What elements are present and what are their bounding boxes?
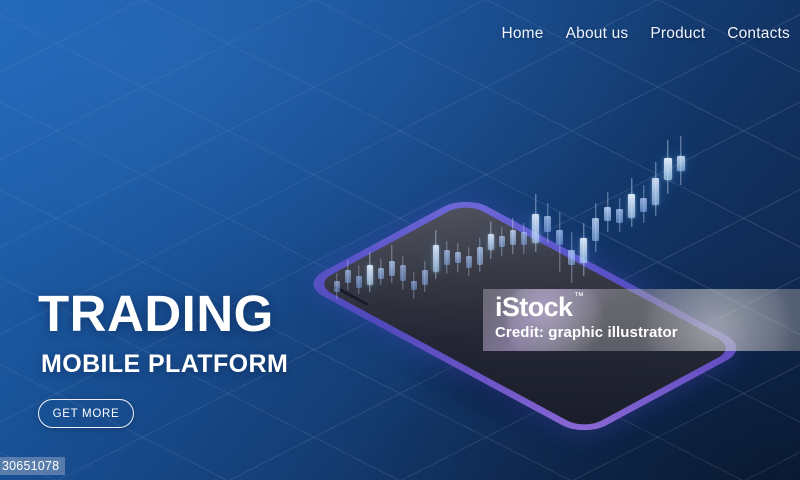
candle-body [544,216,551,232]
nav-item-about-us[interactable]: About us [566,25,629,43]
hero-content: TRADING MOBILE PLATFORM GET MORE [38,288,288,428]
candle-body [499,236,505,247]
candle [580,120,587,310]
candle-body [334,281,340,292]
candle-body [433,245,439,272]
candle-body [521,232,527,245]
candle-body [455,252,461,263]
nav-item-contacts[interactable]: Contacts [727,25,790,43]
candle [345,120,351,310]
candle [499,120,505,310]
main-navigation: Home About us Product Contacts [501,25,790,43]
candle [677,120,685,310]
stock-id-label: 30651078 [0,457,65,475]
candle [367,120,373,310]
candle-body [640,198,647,211]
candle [488,120,494,310]
candle-body [411,281,417,290]
candle-body [356,276,362,287]
candle [628,120,635,310]
candle-body [367,265,373,285]
candle-body [628,194,635,219]
candle-body [400,265,406,281]
candle [422,120,428,310]
candle [544,120,551,310]
candlestick-chart [330,120,700,310]
candle [433,120,439,310]
candle-body [510,230,516,246]
nav-item-product[interactable]: Product [650,25,705,43]
get-more-button[interactable]: GET MORE [38,399,134,428]
candle-body [616,209,623,222]
candle-body [664,158,672,180]
candle [378,120,384,310]
candle [640,120,647,310]
candle-body [604,207,611,220]
candle-body [345,270,351,283]
watermark-text: iStock™ Credit: graphic illustrator [495,294,678,340]
trademark-icon: ™ [574,292,583,302]
watermark-credit: Credit: graphic illustrator [495,325,678,340]
candle-body [652,178,659,205]
nav-item-home[interactable]: Home [501,25,543,43]
istock-logo-label: iStock [495,292,572,322]
candle [477,120,483,310]
hero-banner: Home About us Product Contacts TRADING M… [0,0,800,480]
candle [389,120,395,310]
candle-body [477,247,483,265]
candle-body [378,268,384,279]
candle-body [592,218,599,240]
candle [400,120,406,310]
candle [411,120,417,310]
candle [532,120,539,310]
candle-body [532,214,539,243]
candle [510,120,516,310]
candle [652,120,659,310]
candle-body [488,234,494,250]
candle [592,120,599,310]
candle [664,120,672,310]
candle [466,120,472,310]
candle-body [568,250,575,266]
candle-body [444,250,450,266]
candle [444,120,450,310]
candle [604,120,611,310]
candle [455,120,461,310]
candle [556,120,563,310]
page-title: TRADING [38,288,288,339]
page-subtitle: MOBILE PLATFORM [41,352,288,377]
candle-body [556,230,563,246]
candle [616,120,623,310]
candle [334,120,340,310]
candle-body [389,261,395,277]
candle-body [580,238,587,263]
candle [568,120,575,310]
candle-body [677,156,685,172]
candle [521,120,527,310]
candle-body [466,256,472,267]
istock-logo: iStock™ [495,294,572,321]
candle [356,120,362,310]
candle-body [422,270,428,286]
